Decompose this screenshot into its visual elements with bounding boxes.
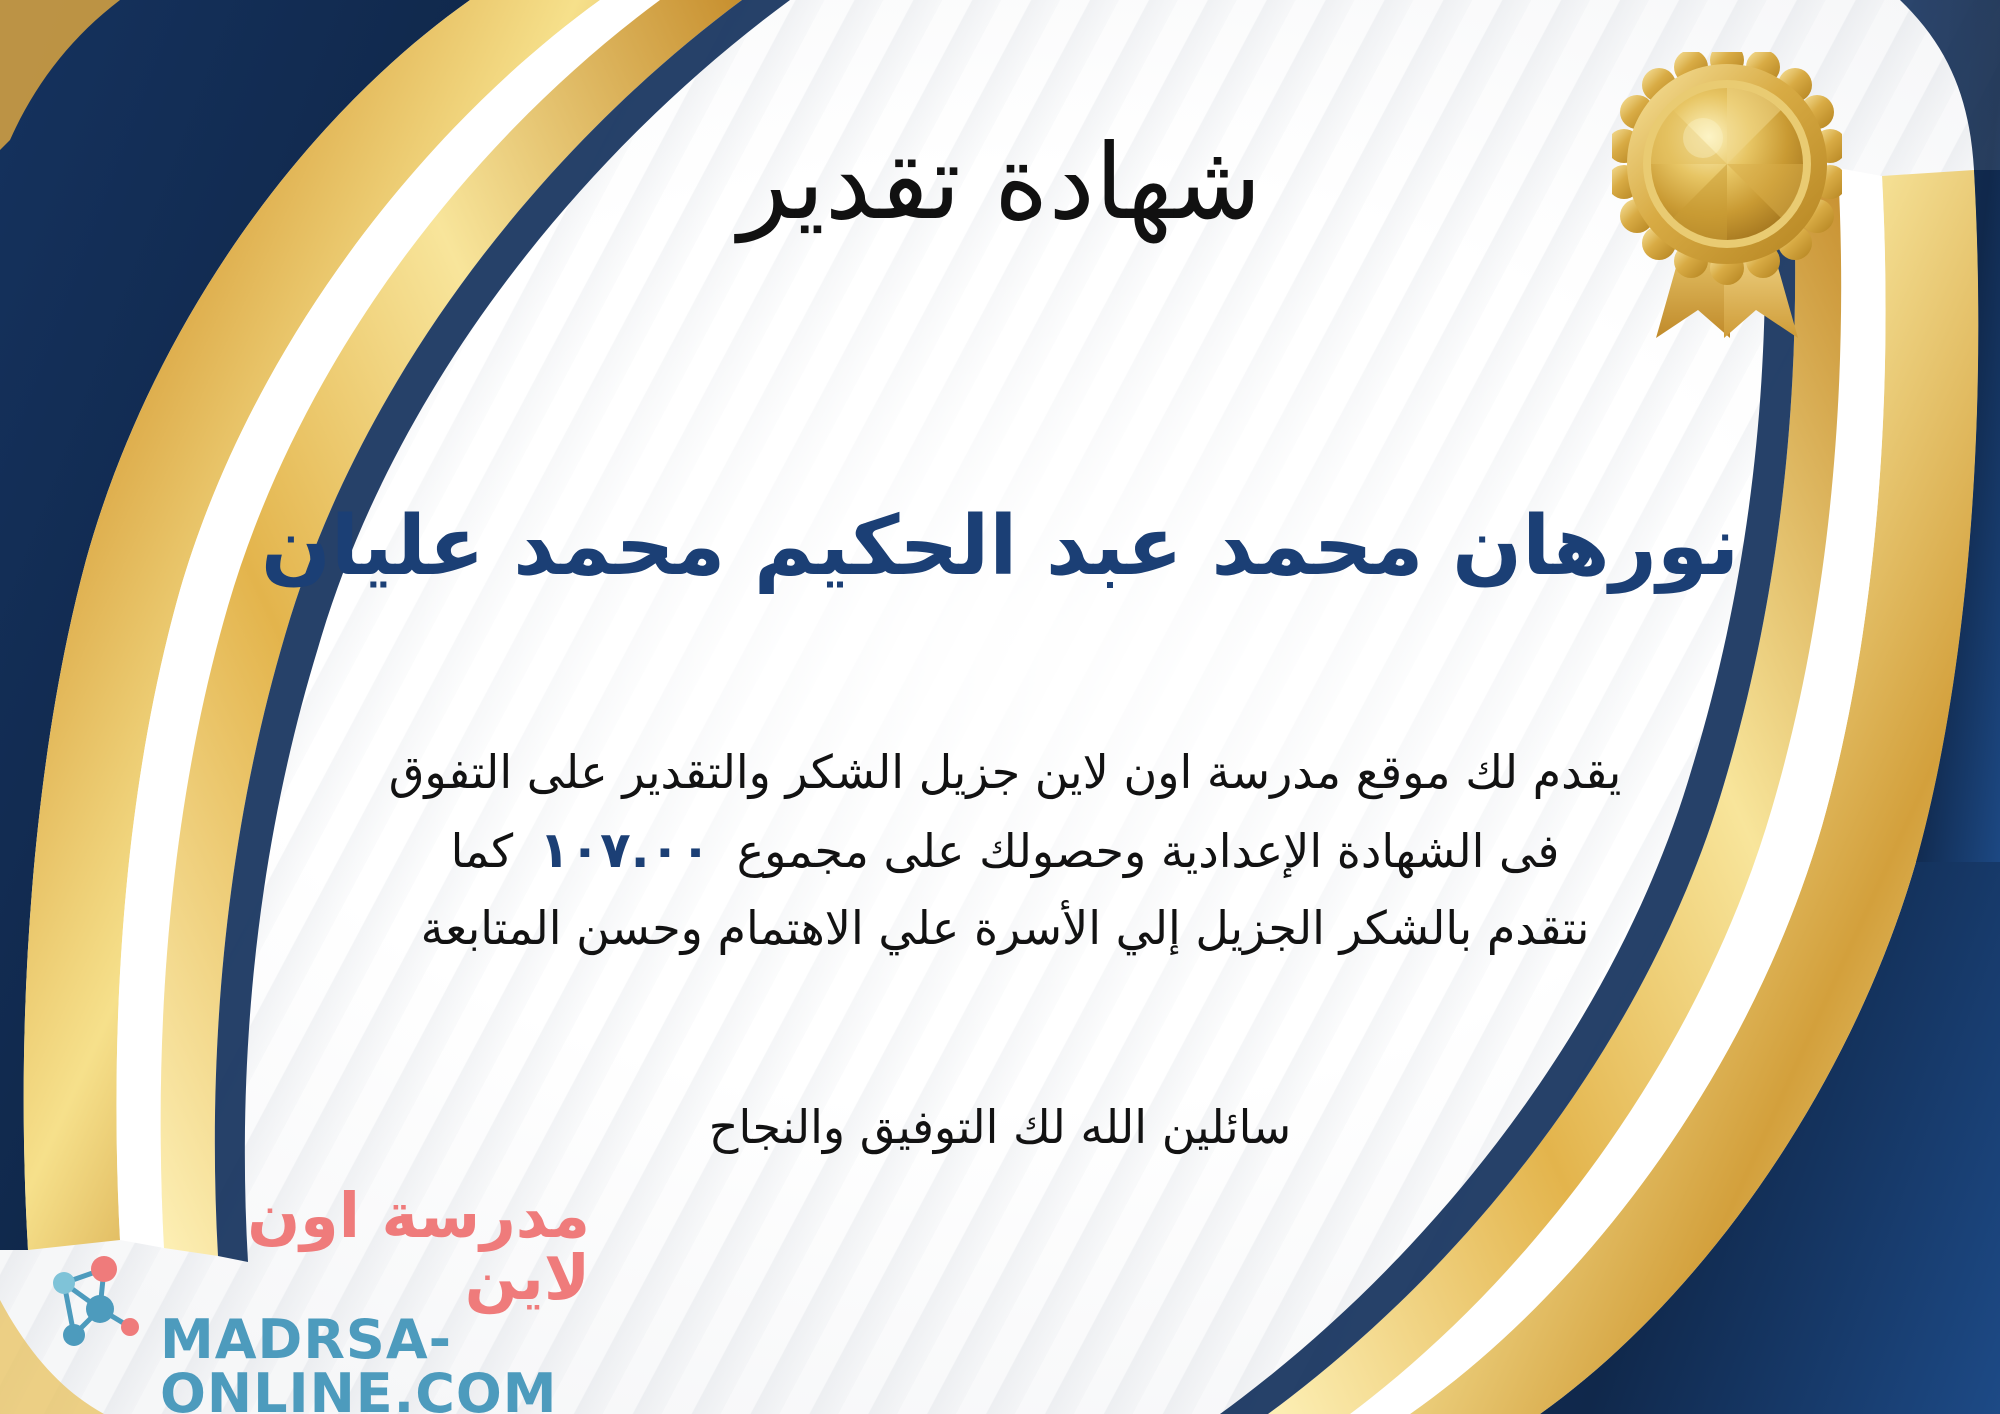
certificate-body: يقدم لك موقع مدرسة اون لاين جزيل الشكر و… xyxy=(160,735,1850,965)
recipient-name: نورهان محمد عبد الحكيم محمد عليان xyxy=(0,500,2000,594)
certificate-canvas: شهادة تقدير نورهان محمد عبد الحكيم محمد … xyxy=(0,0,2000,1414)
closing-wish-text: سائلين الله لك التوفيق والنجاح xyxy=(0,1100,2000,1154)
brand-logo[interactable]: مدرسة اون لاين MADRSA-ONLINE.COM xyxy=(30,1228,590,1378)
brand-text: مدرسة اون لاين MADRSA-ONLINE.COM xyxy=(160,1185,590,1414)
body-line-1: يقدم لك موقع مدرسة اون لاين جزيل الشكر و… xyxy=(160,735,1850,810)
body-line-3: نتقدم بالشكر الجزيل إلي الأسرة علي الاهت… xyxy=(160,891,1850,966)
brand-website-url[interactable]: MADRSA-ONLINE.COM xyxy=(160,1313,590,1414)
network-nodes-icon xyxy=(30,1243,150,1363)
brand-name-arabic: مدرسة اون لاين xyxy=(160,1185,590,1309)
body-line-2-prefix: فى الشهادة الإعدادية وحصولك على مجموع xyxy=(737,824,1560,878)
page-title: شهادة تقدير xyxy=(0,128,2000,237)
grade-total-value: ١٠٧.٠٠ xyxy=(513,821,737,879)
body-line-2-suffix: كما xyxy=(451,824,514,878)
body-line-2: فى الشهادة الإعدادية وحصولك على مجموع١٠٧… xyxy=(160,810,1850,891)
